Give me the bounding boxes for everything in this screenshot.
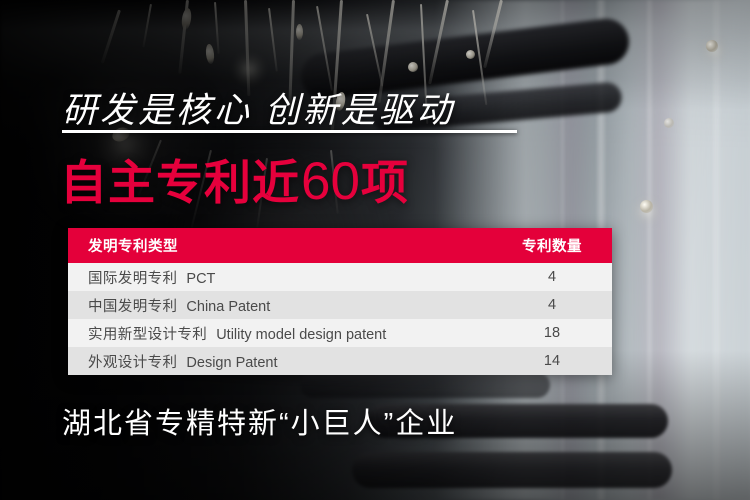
tagline: 湖北省专精特新“小巨人”企业 xyxy=(62,400,457,442)
table-row: 国际发明专利PCT 4 xyxy=(68,263,612,291)
table-row: 实用新型设计专利Utility model design patent 18 xyxy=(68,319,612,347)
headline-suffix: 项 xyxy=(361,156,409,209)
headline-number: 60 xyxy=(300,152,361,211)
patent-type-cn: 实用新型设计专利 xyxy=(88,327,207,343)
headline-patent-count: 自主专利近60项 xyxy=(60,144,409,213)
patent-type-cn: 外观设计专利 xyxy=(88,355,177,371)
patent-type-en: Utility model design patent xyxy=(207,327,386,343)
table-header-row: 发明专利类型 专利数量 xyxy=(68,228,612,263)
poster-content: 研发是核心 创新是驱动 自主专利近60项 发明专利类型 专利数量 国际发明专利P… xyxy=(0,0,750,500)
patent-table: 发明专利类型 专利数量 国际发明专利PCT 4 中国发明专利China Pate… xyxy=(68,228,612,375)
cell-patent-type: 外观设计专利Design Patent xyxy=(68,347,492,375)
title-divider xyxy=(62,130,517,133)
cell-patent-count: 14 xyxy=(492,347,612,375)
cell-patent-type: 中国发明专利China Patent xyxy=(68,291,492,319)
table-header: 发明专利类型 专利数量 xyxy=(68,228,612,263)
patent-type-en: China Patent xyxy=(177,299,270,315)
table-row: 中国发明专利China Patent 4 xyxy=(68,291,612,319)
page-title: 研发是核心 创新是驱动 xyxy=(62,82,455,133)
cell-patent-type: 实用新型设计专利Utility model design patent xyxy=(68,319,492,347)
promo-poster: 研发是核心 创新是驱动 自主专利近60项 发明专利类型 专利数量 国际发明专利P… xyxy=(0,0,750,500)
patent-type-en: PCT xyxy=(177,271,215,287)
column-header-type: 发明专利类型 xyxy=(68,228,492,263)
column-header-count: 专利数量 xyxy=(492,228,612,263)
patent-type-cn: 国际发明专利 xyxy=(88,271,177,287)
cell-patent-count: 4 xyxy=(492,263,612,291)
patent-type-cn: 中国发明专利 xyxy=(88,299,177,315)
patent-type-en: Design Patent xyxy=(177,355,277,371)
cell-patent-type: 国际发明专利PCT xyxy=(68,263,492,291)
cell-patent-count: 4 xyxy=(492,291,612,319)
table-body: 国际发明专利PCT 4 中国发明专利China Patent 4 实用新型设计专… xyxy=(68,263,612,375)
headline-prefix: 自主专利近 xyxy=(60,156,300,209)
cell-patent-count: 18 xyxy=(492,319,612,347)
table-row: 外观设计专利Design Patent 14 xyxy=(68,347,612,375)
